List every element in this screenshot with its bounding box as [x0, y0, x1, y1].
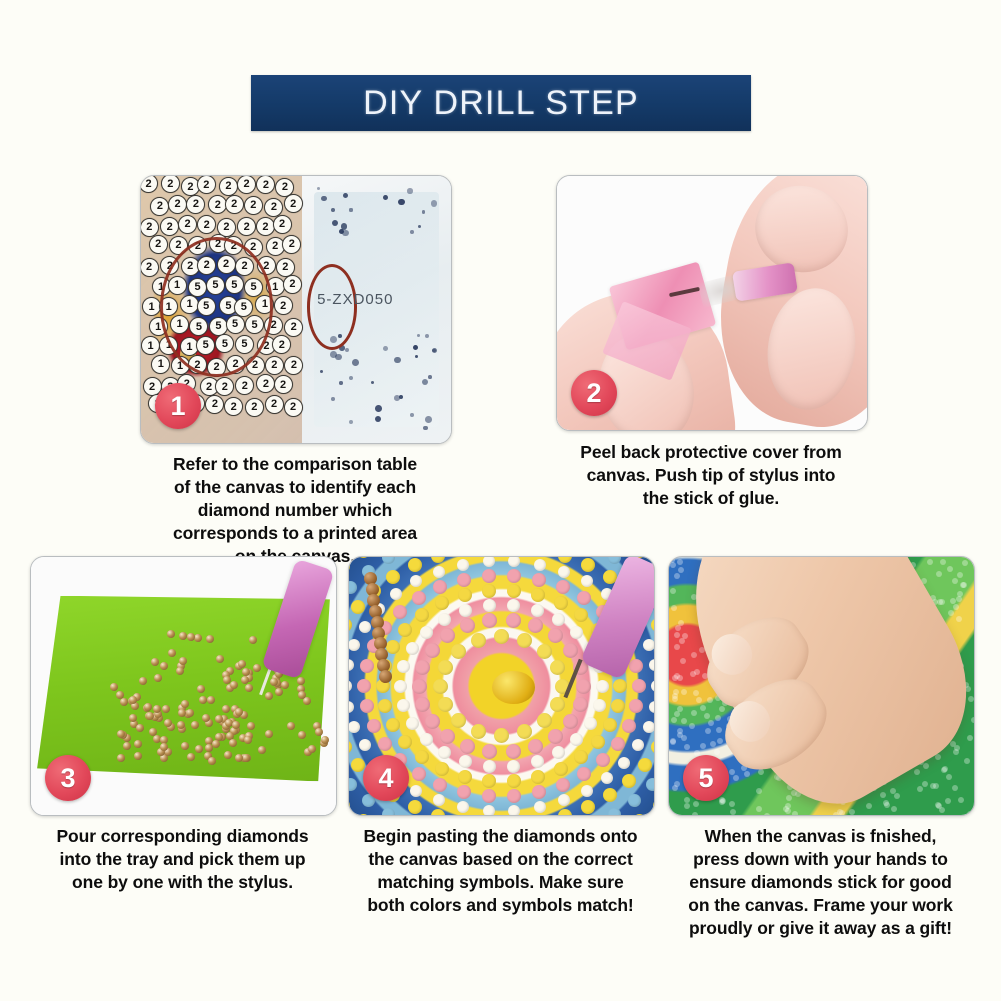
canvas-diamond — [643, 721, 654, 733]
canvas-diamond — [574, 608, 588, 622]
canvas-diamond — [611, 737, 625, 751]
step-4-bead-chain — [364, 572, 385, 680]
tray-diamond — [123, 742, 131, 750]
canvas-diamond — [649, 659, 654, 671]
canvas-diamond — [451, 713, 466, 728]
canvas-symbol: 2 — [160, 217, 179, 236]
canvas-diamond — [507, 760, 520, 773]
canvas-diamond — [483, 557, 495, 567]
canvas-diamond-sparkle — [880, 792, 886, 798]
canvas-diamond — [415, 660, 430, 675]
drill-bead — [321, 196, 327, 202]
canvas-diamond — [506, 744, 521, 759]
canvas-diamond-sparkle — [719, 706, 725, 712]
canvas-diamond — [458, 770, 472, 784]
canvas-diamond — [460, 618, 475, 633]
canvas-diamond-sparkle — [684, 797, 690, 803]
canvas-symbol: 2 — [284, 318, 303, 337]
canvas-diamond-sparkle — [689, 723, 695, 729]
canvas-diamond-sparkle — [678, 567, 684, 573]
canvas-diamond — [460, 739, 475, 754]
canvas-diamond — [390, 588, 402, 600]
canvas-symbol: 1 — [141, 336, 160, 355]
tray-diamond — [178, 709, 186, 717]
canvas-diamond — [508, 557, 520, 567]
canvas-diamond — [638, 758, 652, 772]
canvas-symbol: 2 — [283, 275, 302, 294]
canvas-diamond — [397, 699, 410, 712]
canvas-diamond-sparkle — [671, 605, 677, 611]
tray-diamond — [110, 683, 118, 691]
canvas-diamond-sparkle — [956, 616, 962, 622]
canvas-diamond-sparkle — [786, 795, 792, 801]
canvas-diamond-sparkle — [700, 705, 706, 711]
tray-diamond — [187, 753, 195, 761]
canvas-diamond — [425, 643, 440, 658]
canvas-diamond-sparkle — [764, 813, 770, 815]
canvas-diamond — [570, 733, 583, 746]
step-2-number-badge: 2 — [571, 370, 617, 416]
canvas-diamond — [537, 644, 552, 659]
canvas-diamond — [528, 618, 543, 633]
canvas-diamond — [357, 679, 371, 693]
canvas-diamond-sparkle — [708, 720, 714, 726]
tray-diamond — [270, 678, 278, 686]
tray-diamond — [144, 703, 152, 711]
step-2-image: 2 — [556, 175, 868, 431]
canvas-diamond-sparkle — [719, 799, 725, 805]
canvas-diamond — [651, 680, 654, 692]
step-3-card: 3 Pour corresponding diamonds into the t… — [30, 556, 335, 814]
canvas-diamond-sparkle — [744, 771, 750, 777]
canvas-symbol: 2 — [197, 215, 216, 234]
canvas-diamond-sparkle — [705, 728, 711, 734]
canvas-diamond-sparkle — [680, 658, 686, 664]
canvas-diamond — [584, 717, 597, 730]
canvas-diamond — [508, 805, 520, 815]
drill-bead — [417, 334, 420, 337]
canvas-diamond-sparkle — [681, 689, 687, 695]
canvas-diamond — [482, 789, 496, 803]
step-4-caption: Begin pasting the diamonds onto the canv… — [348, 825, 653, 917]
canvas-diamond-sparkle — [715, 715, 721, 721]
step-1-image: 2222222222222222222222222222222222222222… — [140, 175, 452, 444]
canvas-diamond — [622, 774, 636, 788]
canvas-diamond — [457, 559, 469, 571]
canvas-diamond — [603, 718, 617, 732]
canvas-symbol: 2 — [274, 296, 293, 315]
canvas-diamond — [482, 569, 496, 583]
canvas-diamond-sparkle — [684, 803, 690, 809]
canvas-diamond — [482, 774, 496, 788]
canvas-diamond — [420, 733, 433, 746]
canvas-diamond — [646, 778, 654, 791]
canvas-diamond — [457, 785, 471, 799]
step-1-card: 2222222222222222222222222222222222222222… — [140, 175, 450, 442]
canvas-diamond-sparkle — [939, 599, 945, 605]
drill-bead — [349, 208, 352, 211]
step-1-caption: Refer to the comparison table of the can… — [140, 453, 450, 568]
tray-diamond — [216, 655, 224, 663]
canvas-diamond-sparkle — [952, 785, 958, 791]
canvas-diamond-sparkle — [674, 644, 680, 650]
canvas-diamond — [483, 599, 496, 612]
canvas-symbol: 2 — [225, 195, 244, 214]
tray-diamond — [179, 632, 187, 640]
canvas-diamond-sparkle — [922, 781, 928, 787]
canvas-diamond-sparkle — [710, 741, 716, 747]
canvas-diamond-sparkle — [673, 689, 679, 695]
canvas-diamond-sparkle — [954, 745, 960, 751]
canvas-diamond — [349, 639, 360, 651]
canvas-diamond — [608, 557, 621, 564]
canvas-diamond-sparkle — [677, 559, 683, 565]
tray-diamond — [208, 757, 216, 765]
tray-diamond — [265, 692, 273, 700]
canvas-diamond — [558, 566, 570, 578]
canvas-diamond-sparkle — [917, 786, 923, 792]
canvas-symbol: 2 — [140, 218, 159, 237]
canvas-diamond — [415, 697, 430, 712]
canvas-diamond-sparkle — [946, 774, 952, 780]
canvas-diamond — [457, 801, 469, 813]
canvas-symbol: 2 — [149, 235, 168, 254]
canvas-diamond — [394, 680, 407, 693]
page-title: DIY DRILL STEP — [363, 84, 639, 123]
tray-diamond — [186, 709, 194, 717]
drill-bead — [418, 225, 421, 228]
step-4-center-gem — [492, 671, 535, 705]
drill-bead — [422, 210, 426, 214]
canvas-diamond — [517, 633, 532, 648]
canvas-diamond — [406, 717, 419, 730]
canvas-diamond-sparkle — [953, 604, 959, 610]
canvas-diamond-sparkle — [670, 562, 676, 568]
canvas-diamond-sparkle — [717, 738, 723, 744]
step-5-card: 5 When the canvas is fnished, press down… — [668, 556, 973, 814]
tray-diamond — [281, 681, 289, 689]
canvas-diamond — [629, 659, 643, 673]
canvas-diamond-sparkle — [733, 775, 739, 781]
tray-diamond — [168, 649, 176, 657]
canvas-diamond — [531, 770, 545, 784]
drill-bead — [425, 334, 429, 338]
canvas-diamond-sparkle — [690, 671, 696, 677]
canvas-diamond — [378, 737, 392, 751]
canvas-diamond — [554, 596, 568, 610]
tray-diamond — [265, 730, 273, 738]
canvas-diamond — [507, 584, 521, 598]
drill-bead — [331, 208, 335, 212]
canvas-symbol: 2 — [186, 195, 205, 214]
tray-diamond — [207, 696, 215, 704]
canvas-diamond — [556, 580, 570, 594]
canvas-diamond — [433, 778, 447, 792]
canvas-diamond — [548, 729, 563, 744]
canvas-diamond-sparkle — [950, 598, 956, 604]
canvas-diamond — [577, 591, 591, 605]
canvas-diamond-sparkle — [691, 652, 697, 658]
canvas-diamond — [459, 604, 472, 617]
canvas-diamond — [408, 800, 422, 814]
canvas-diamond — [397, 660, 410, 673]
canvas-diamond-sparkle — [670, 739, 676, 745]
tray-diamond — [235, 708, 243, 716]
header-banner: DIY DRILL STEP — [251, 75, 751, 131]
drill-bead — [407, 188, 412, 193]
canvas-diamond-sparkle — [756, 788, 762, 794]
tray-diamond — [134, 752, 142, 760]
drill-bead — [394, 357, 400, 363]
tray-diamond — [139, 677, 147, 685]
canvas-diamond — [438, 746, 451, 759]
tray-diamond — [136, 724, 144, 732]
canvas-diamond — [507, 774, 521, 788]
canvas-diamond-sparkle — [756, 806, 762, 812]
canvas-diamond-sparkle — [942, 766, 948, 772]
step-5-image: 5 — [668, 556, 975, 816]
canvas-diamond-sparkle — [914, 769, 920, 775]
canvas-diamond — [435, 762, 449, 776]
canvas-diamond — [410, 785, 422, 797]
canvas-diamond — [349, 740, 352, 754]
canvas-diamond — [531, 755, 544, 768]
canvas-diamond — [378, 699, 392, 713]
tray-diamond — [230, 681, 238, 689]
drill-bead — [335, 354, 342, 361]
canvas-diamond-sparkle — [707, 697, 713, 703]
canvas-diamond-sparkle — [729, 801, 735, 807]
canvas-diamond-sparkle — [693, 690, 699, 696]
canvas-symbol: 1 — [151, 355, 170, 374]
canvas-diamond — [531, 604, 544, 617]
canvas-diamond-sparkle — [967, 735, 973, 741]
canvas-diamond-sparkle — [945, 798, 951, 804]
canvas-diamond — [386, 570, 400, 584]
canvas-diamond-sparkle — [691, 710, 697, 716]
canvas-symbol: 2 — [219, 177, 238, 196]
drill-bead — [339, 381, 342, 384]
canvas-diamond-sparkle — [792, 811, 798, 815]
canvas-diamond — [622, 719, 636, 733]
canvas-symbol: 2 — [197, 175, 216, 194]
canvas-diamond — [643, 639, 654, 651]
canvas-diamond-sparkle — [674, 573, 680, 579]
canvas-diamond — [507, 599, 520, 612]
canvas-symbol: 2 — [273, 215, 292, 234]
canvas-diamond-sparkle — [884, 802, 890, 808]
canvas-diamond — [550, 697, 565, 712]
canvas-symbol: 2 — [274, 375, 293, 394]
canvas-diamond-sparkle — [935, 754, 941, 760]
canvas-diamond — [386, 718, 400, 732]
canvas-diamond — [603, 788, 617, 802]
canvas-symbol: 2 — [256, 217, 275, 236]
tray-diamond — [191, 721, 199, 729]
canvas-diamond-sparkle — [891, 806, 897, 812]
tray-diamond — [162, 705, 170, 713]
tray-diamond — [179, 657, 187, 665]
canvas-diamond — [410, 575, 422, 587]
canvas-diamond — [398, 623, 412, 637]
canvas-diamond — [591, 735, 605, 749]
canvas-symbol: 2 — [224, 397, 243, 416]
canvas-symbol: 2 — [256, 175, 275, 194]
canvas-symbol: 2 — [237, 217, 256, 236]
canvas-diamond — [357, 557, 370, 558]
canvas-diamond-sparkle — [956, 596, 962, 602]
canvas-diamond-sparkle — [681, 735, 687, 741]
diy-drill-step-poster: DIY DRILL STEP 2222222222222222222222222… — [0, 0, 1001, 1001]
tray-diamond — [151, 658, 159, 666]
canvas-diamond-sparkle — [671, 717, 677, 723]
canvas-symbol: 2 — [265, 395, 284, 414]
canvas-diamond-sparkle — [716, 727, 722, 733]
canvas-symbol: 2 — [284, 398, 303, 417]
canvas-diamond-sparkle — [952, 578, 958, 584]
canvas-diamond-sparkle — [783, 806, 789, 812]
canvas-diamond — [574, 750, 588, 764]
canvas-diamond-sparkle — [839, 810, 845, 815]
canvas-diamond — [482, 584, 496, 598]
tray-diamond — [197, 685, 205, 693]
canvas-diamond — [360, 699, 374, 713]
canvas-diamond — [576, 679, 591, 694]
canvas-diamond — [349, 701, 354, 713]
canvas-diamond-sparkle — [936, 571, 942, 577]
drill-bead — [383, 346, 388, 351]
canvas-diamond-sparkle — [674, 632, 680, 638]
canvas-diamond — [433, 794, 445, 806]
drill-bead — [423, 426, 428, 431]
canvas-diamond — [494, 728, 509, 743]
canvas-diamond — [577, 767, 591, 781]
canvas-diamond-sparkle — [933, 783, 939, 789]
canvas-diamond — [649, 701, 654, 713]
tray-diamond — [275, 688, 283, 696]
step-1-highlight-circle — [160, 237, 272, 377]
canvas-symbol: 2 — [140, 175, 158, 193]
tray-diamond — [224, 751, 232, 759]
step-3-image: 3 — [30, 556, 337, 816]
drill-bead — [413, 345, 418, 350]
canvas-diamond — [556, 778, 570, 792]
step-1-bag-label: 5-ZXD050 — [317, 291, 393, 308]
canvas-diamond — [573, 697, 588, 712]
canvas-diamond-sparkle — [968, 696, 974, 702]
canvas-diamond — [440, 729, 455, 744]
canvas-diamond — [406, 642, 419, 655]
canvas-diamond — [349, 778, 357, 791]
step-3-number-badge: 3 — [45, 755, 91, 801]
canvas-diamond — [563, 714, 578, 729]
drill-bead — [375, 405, 382, 412]
canvas-symbol: 2 — [256, 374, 275, 393]
canvas-diamond — [451, 644, 466, 659]
canvas-diamond-sparkle — [696, 697, 702, 703]
canvas-symbol: 2 — [245, 398, 264, 417]
tray-diamond — [287, 722, 295, 730]
canvas-diamond — [632, 679, 646, 693]
canvas-diamond — [412, 679, 427, 694]
canvas-symbol: 2 — [150, 197, 169, 216]
canvas-diamond — [438, 613, 451, 626]
drill-bead — [399, 395, 403, 399]
canvas-diamond — [618, 757, 630, 769]
canvas-diamond — [532, 573, 546, 587]
canvas-diamond-sparkle — [957, 572, 963, 578]
canvas-diamond — [534, 559, 546, 571]
canvas-diamond-sparkle — [700, 743, 706, 749]
drill-bead — [410, 413, 414, 417]
canvas-diamond — [593, 699, 606, 712]
canvas-diamond — [349, 721, 360, 733]
canvas-symbol: 2 — [205, 395, 224, 414]
tray-diamond — [235, 754, 243, 762]
canvas-diamond — [581, 558, 595, 572]
tray-diamond — [120, 698, 128, 706]
canvas-diamond-sparkle — [670, 588, 676, 594]
canvas-diamond — [581, 575, 593, 587]
canvas-diamond — [628, 794, 641, 807]
canvas-symbol: 2 — [284, 194, 303, 213]
drill-bead — [428, 375, 432, 379]
canvas-diamond-sparkle — [894, 793, 900, 799]
canvas-diamond — [506, 613, 521, 628]
canvas-diamond — [601, 772, 613, 784]
canvas-symbol: 2 — [235, 376, 254, 395]
step-1-number-badge: 1 — [155, 383, 201, 429]
canvas-diamond — [349, 799, 350, 812]
canvas-diamond-sparkle — [682, 633, 688, 639]
canvas-diamond — [351, 758, 365, 772]
canvas-diamond — [611, 699, 625, 713]
canvas-diamond-sparkle — [927, 559, 933, 565]
drill-bead — [343, 193, 348, 198]
canvas-diamond — [482, 744, 497, 759]
canvas-diamond-sparkle — [704, 713, 710, 719]
canvas-diamond — [349, 659, 354, 671]
canvas-diamond — [534, 801, 546, 813]
canvas-diamond — [471, 724, 486, 739]
canvas-diamond — [425, 714, 440, 729]
canvas-diamond — [408, 558, 422, 572]
canvas-diamond — [632, 739, 644, 751]
tray-diamond — [245, 684, 253, 692]
canvas-diamond — [433, 679, 448, 694]
canvas-diamond — [431, 809, 445, 815]
canvas-diamond-sparkle — [940, 559, 946, 565]
drill-bead — [345, 348, 349, 352]
canvas-symbol: 2 — [284, 356, 303, 375]
tray-diamond — [229, 739, 237, 747]
canvas-diamond-sparkle — [714, 749, 720, 755]
canvas-diamond-sparkle — [958, 797, 964, 803]
bead-chain-link — [379, 670, 392, 683]
canvas-diamond-sparkle — [681, 718, 687, 724]
step-2-card: 2 Peel back protective cover from canvas… — [556, 175, 866, 429]
canvas-diamond-sparkle — [678, 620, 684, 626]
drill-bead — [317, 187, 320, 190]
canvas-diamond — [359, 739, 371, 751]
drill-bead — [352, 359, 359, 366]
tray-diamond — [215, 715, 223, 723]
canvas-diamond — [412, 767, 426, 781]
canvas-diamond — [552, 746, 565, 759]
tray-diamond — [242, 668, 250, 676]
canvas-diamond — [351, 600, 365, 614]
drill-bead — [349, 376, 353, 380]
